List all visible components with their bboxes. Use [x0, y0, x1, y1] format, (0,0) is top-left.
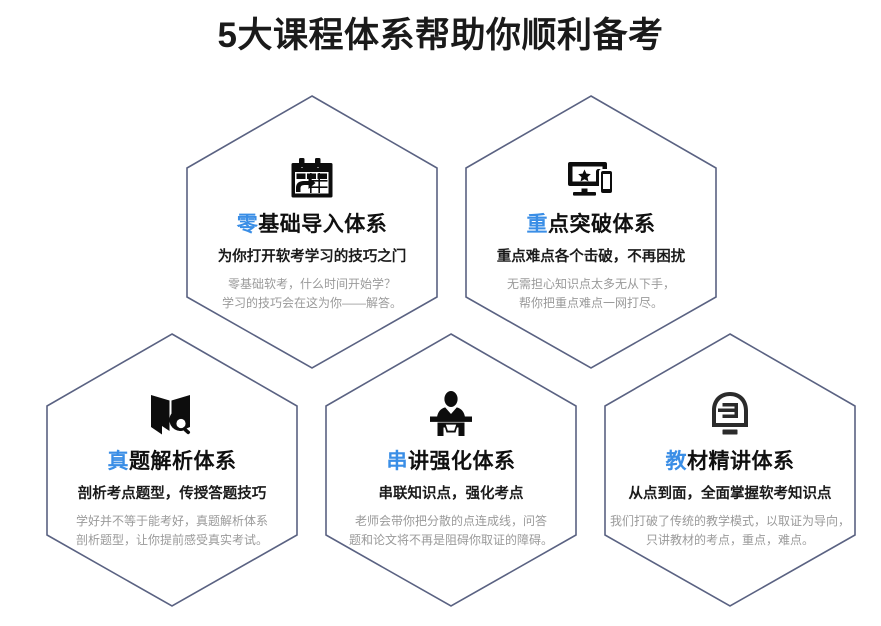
hexagon-grid: 零基础导入体系 为你打开软考学习的技巧之门 零基础软考，什么时间开始学？ 学习的… [0, 0, 881, 626]
feature-heading-rest: 点突破体系 [548, 213, 656, 236]
book-search-icon [47, 385, 297, 437]
calendar-forward-icon [187, 148, 437, 200]
feature-body: 无需担心知识点太多无从下手， 帮你把重点难点一网打尽。 [466, 275, 716, 313]
feature-card-textbook[interactable]: 教材精讲体系 从点到面，全面掌握软考知识点 我们打破了传统的教学模式，以取证为导… [605, 385, 855, 550]
feature-body: 学好并不等于能考好，真题解析体系 剖析题型，让你提前感受真实考试。 [47, 512, 297, 550]
monitor-star-mobile-icon [466, 148, 716, 200]
feature-body-line-1: 无需担心知识点太多无从下手， [466, 275, 716, 294]
feature-body: 我们打破了传统的教学模式，以取证为导向， 只讲教材的考点，重点，难点。 [605, 512, 855, 550]
feature-body-line-2: 题和论文将不再是阻碍你取证的障碍。 [326, 531, 576, 550]
feature-body-line-1: 我们打破了传统的教学模式，以取证为导向， [605, 512, 855, 531]
feature-heading-rest: 材精讲体系 [687, 450, 795, 473]
feature-body-line-2: 帮你把重点难点一网打尽。 [466, 294, 716, 313]
textbook-icon [605, 385, 855, 437]
feature-heading-rest: 题解析体系 [129, 450, 237, 473]
feature-body-line-2: 只讲教材的考点，重点，难点。 [605, 531, 855, 550]
feature-body-line-1: 零基础软考，什么时间开始学？ [187, 275, 437, 294]
feature-heading-rest: 讲强化体系 [408, 450, 516, 473]
feature-body-line-1: 老师会带你把分散的点连成线，问答 [326, 512, 576, 531]
feature-heading: 零基础导入体系 [187, 212, 437, 238]
feature-body-line-1: 学好并不等于能考好，真题解析体系 [47, 512, 297, 531]
lecturer-podium-icon [326, 385, 576, 437]
feature-heading-accent: 教 [666, 450, 688, 473]
feature-heading-rest: 基础导入体系 [258, 213, 387, 236]
feature-subtitle: 从点到面，全面掌握软考知识点 [605, 484, 855, 504]
feature-card-key-points[interactable]: 重点突破体系 重点难点各个击破，不再困扰 无需担心知识点太多无从下手， 帮你把重… [466, 148, 716, 313]
feature-subtitle: 重点难点各个击破，不再困扰 [466, 247, 716, 267]
feature-body-line-2: 学习的技巧会在这为你——解答。 [187, 294, 437, 313]
feature-card-zero-base[interactable]: 零基础导入体系 为你打开软考学习的技巧之门 零基础软考，什么时间开始学？ 学习的… [187, 148, 437, 313]
feature-heading: 重点突破体系 [466, 212, 716, 238]
feature-heading-accent: 重 [527, 213, 549, 236]
feature-body: 零基础软考，什么时间开始学？ 学习的技巧会在这为你——解答。 [187, 275, 437, 313]
feature-card-intensive-lecture[interactable]: 串讲强化体系 串联知识点，强化考点 老师会带你把分散的点连成线，问答 题和论文将… [326, 385, 576, 550]
feature-heading: 串讲强化体系 [326, 449, 576, 475]
feature-body-line-2: 剖析题型，让你提前感受真实考试。 [47, 531, 297, 550]
feature-body: 老师会带你把分散的点连成线，问答 题和论文将不再是阻碍你取证的障碍。 [326, 512, 576, 550]
feature-heading-accent: 零 [237, 213, 259, 236]
feature-heading: 教材精讲体系 [605, 449, 855, 475]
feature-heading-accent: 真 [108, 450, 130, 473]
feature-subtitle: 剖析考点题型，传授答题技巧 [47, 484, 297, 504]
feature-subtitle: 为你打开软考学习的技巧之门 [187, 247, 437, 267]
feature-card-past-papers[interactable]: 真题解析体系 剖析考点题型，传授答题技巧 学好并不等于能考好，真题解析体系 剖析… [47, 385, 297, 550]
feature-subtitle: 串联知识点，强化考点 [326, 484, 576, 504]
feature-heading-accent: 串 [387, 450, 409, 473]
feature-heading: 真题解析体系 [47, 449, 297, 475]
